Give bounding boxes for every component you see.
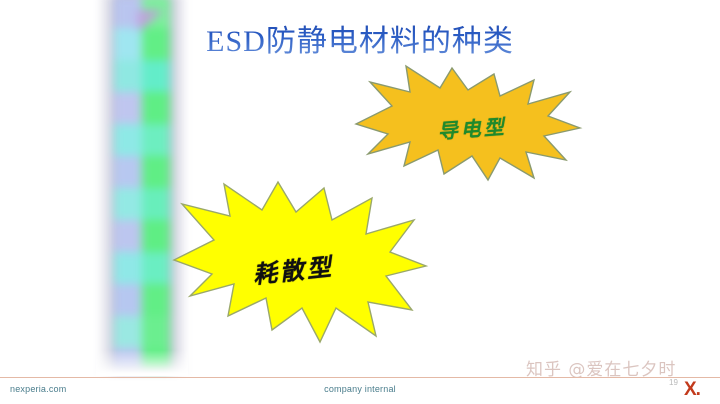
starburst-conductive: 导电型 [348, 62, 584, 188]
page-number: 19 [669, 378, 678, 387]
slide-canvas: ESD防静电材料的种类 导电型 耗散型 知乎 @爱在七夕时 nexperia.c… [0, 0, 720, 404]
footer-confidentiality: company internal [0, 384, 720, 394]
starburst-conductive-shape [348, 62, 584, 188]
brand-logo: X. [684, 379, 700, 401]
page-title: ESD防静电材料的种类 [0, 16, 720, 60]
footer-divider [0, 377, 720, 378]
starburst-dissipative-shape [168, 178, 430, 346]
starburst-dissipative: 耗散型 [168, 178, 430, 346]
column-fade [96, 350, 188, 376]
